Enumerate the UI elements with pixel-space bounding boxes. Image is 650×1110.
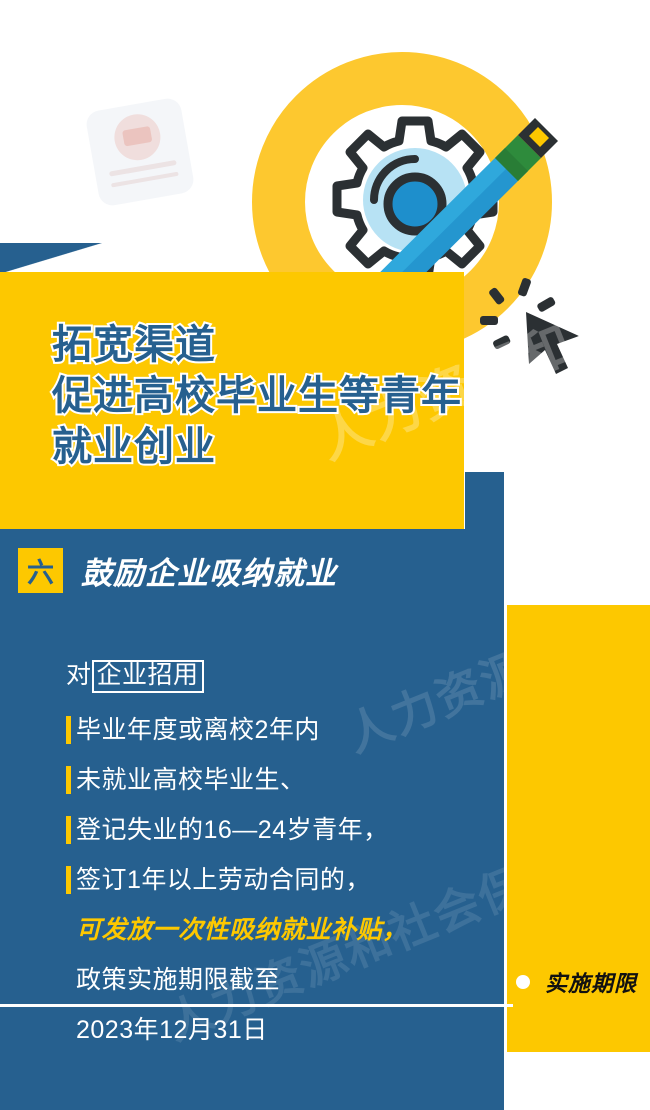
implementation-rule xyxy=(0,1004,513,1007)
highlight-enterprise-hiring: 企业招用 xyxy=(92,660,204,693)
arrow-pointer xyxy=(526,312,579,374)
body-line-6-subsidy: 可发放一次性吸纳就业补贴， xyxy=(60,918,490,943)
body-line-3: 未就业高校毕业生、 xyxy=(60,768,490,793)
section-heading: 鼓励企业吸纳就业 xyxy=(81,548,337,593)
section-number-badge: 六 xyxy=(18,548,63,593)
decor-triangle-blue xyxy=(0,243,103,274)
body-line-1: 对企业招用 xyxy=(60,660,490,693)
title-line-1: 拓宽渠道 xyxy=(52,320,472,371)
body-line-7: 政策实施期限截至 xyxy=(60,968,490,993)
body-line-1-prefix: 对 xyxy=(66,661,92,689)
poster-title: 拓宽渠道 促进高校毕业生等青年 就业创业 xyxy=(52,320,472,473)
blue-panel-notch xyxy=(465,472,504,530)
cursor-click-icon xyxy=(474,264,594,384)
body-line-8-deadline: 2023年12月31日 xyxy=(60,1018,490,1043)
body-line-2: 毕业年度或离校2年内 xyxy=(60,718,490,743)
infographic-poster: 人力资源和社会保障部 拓宽渠道 促进高校毕业生等青年 就业创业 人力资源和社会保… xyxy=(0,0,650,1110)
body-line-5: 签订1年以上劳动合同的， xyxy=(60,868,490,893)
implementation-badge: 实施期限 xyxy=(516,966,637,998)
bullet-dot-icon xyxy=(516,975,530,989)
body-line-4: 登记失业的16—24岁青年， xyxy=(60,818,490,843)
title-line-3: 就业创业 xyxy=(52,422,472,473)
title-line-2: 促进高校毕业生等青年 xyxy=(52,371,472,422)
section-header: 六 鼓励企业吸纳就业 xyxy=(18,548,337,593)
implementation-label: 实施期限 xyxy=(545,966,637,998)
ministry-seal-watermark xyxy=(84,96,195,207)
seal-emblem-icon xyxy=(111,110,164,163)
